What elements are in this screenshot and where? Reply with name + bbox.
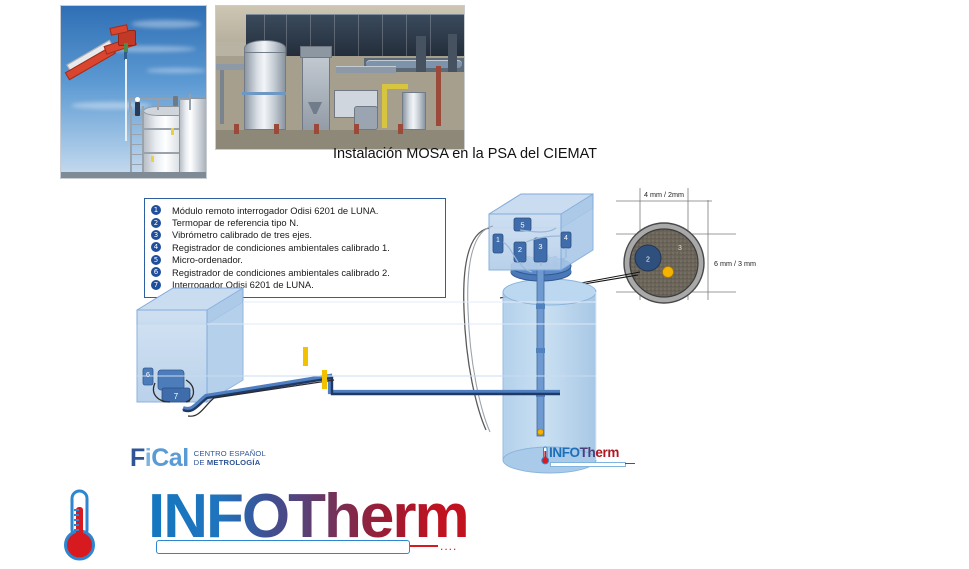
yellow-frame bbox=[382, 84, 408, 89]
infotherm-small-erm: erm bbox=[595, 445, 619, 460]
support-post bbox=[314, 124, 319, 134]
device-label-5: 5 bbox=[520, 221, 524, 230]
infotherm-tube-tip bbox=[410, 545, 438, 547]
silo-tank-rear bbox=[179, 98, 207, 179]
silo-label bbox=[151, 156, 154, 162]
fical-letter-f: F bbox=[130, 444, 145, 472]
pipe-riser bbox=[220, 70, 224, 124]
support-post bbox=[274, 124, 279, 134]
infotherm-tube-dots: .... bbox=[440, 543, 457, 549]
infotherm-small-info: INFO bbox=[549, 445, 580, 460]
filter-top bbox=[300, 46, 332, 58]
cs-marker-2: 2 bbox=[646, 257, 650, 264]
instrument-cabinet-left: 6 7 bbox=[137, 288, 243, 402]
pipe-run bbox=[336, 66, 396, 73]
device-label-1: 1 bbox=[496, 237, 500, 244]
cs-height-label: 6 mm / 3 mm bbox=[714, 259, 756, 268]
fical-subtitle: CENTRO ESPAÑOL DE METROLOGÍA bbox=[194, 449, 266, 468]
support-post bbox=[398, 124, 403, 134]
infotherm-small-bar bbox=[550, 462, 626, 467]
support-post bbox=[234, 124, 239, 134]
ground-strip bbox=[61, 172, 206, 178]
silo-band bbox=[242, 92, 286, 95]
red-column bbox=[436, 66, 441, 126]
fical-wordmark: FiCal bbox=[130, 444, 189, 473]
cable-marker-yellow bbox=[303, 347, 308, 366]
silo-label bbox=[171, 128, 174, 135]
fical-subtitle-line1: CENTRO ESPAÑOL bbox=[194, 449, 266, 459]
cloud-wisp bbox=[146, 68, 206, 73]
fiber-probe bbox=[536, 266, 545, 436]
worker-body bbox=[135, 102, 140, 116]
fiber-cable-arc bbox=[464, 228, 489, 430]
photo-crane-silo bbox=[60, 5, 207, 179]
worker-helmet bbox=[135, 97, 140, 102]
device-label-3: 3 bbox=[538, 242, 542, 251]
fical-letters-cal: Cal bbox=[151, 444, 188, 472]
ladder bbox=[130, 106, 144, 178]
infotherm-small-th: Th bbox=[580, 445, 596, 460]
device-label-2: 2 bbox=[518, 245, 522, 254]
cloud-wisp bbox=[131, 20, 201, 28]
suspended-cable bbox=[125, 59, 127, 141]
secondary-tank bbox=[402, 92, 426, 130]
worker-body bbox=[173, 96, 178, 106]
fical-sub-metrologia: METROLOGÍA bbox=[207, 458, 260, 467]
cs-width-label: 4 mm / 2mm bbox=[644, 190, 684, 199]
fical-logo: FiCal CENTRO ESPAÑOL DE METROLOGÍA bbox=[130, 443, 280, 473]
yellow-frame bbox=[382, 84, 387, 128]
tower-structure bbox=[448, 34, 457, 72]
cs-marker-3: 3 bbox=[678, 245, 682, 252]
rail-post bbox=[189, 94, 191, 110]
infotherm-small-wordmark: INFOTherm bbox=[549, 445, 619, 460]
system-schematic: 2 3 4 mm / 2mm 6 mm / 3 mm bbox=[0, 180, 969, 480]
infotherm-tube-bar bbox=[156, 540, 410, 554]
fical-subtitle-line2: DE METROLOGÍA bbox=[194, 458, 266, 468]
cable-marker-yellow bbox=[322, 370, 327, 389]
thermometer-icon-large bbox=[60, 487, 110, 565]
figure-caption: Instalación MOSA en la PSA del CIEMAT bbox=[215, 146, 715, 162]
device-label-4: 4 bbox=[564, 235, 568, 242]
infotherm-logo-small: INFOTherm bbox=[541, 446, 633, 466]
fical-sub-de: DE bbox=[194, 458, 207, 467]
tower-structure bbox=[416, 36, 426, 72]
device-label-6: 6 bbox=[146, 370, 150, 379]
filter-unit bbox=[302, 54, 330, 132]
instrument-cabinet-right: 5 1 2 3 4 bbox=[489, 194, 593, 272]
photo-mosa-plant bbox=[215, 5, 465, 150]
main-silo bbox=[244, 52, 286, 130]
device-label-7: 7 bbox=[174, 392, 179, 401]
support-post bbox=[354, 124, 359, 134]
infotherm-logo-large: INFOTherm .... bbox=[60, 487, 395, 565]
rail-post bbox=[157, 98, 159, 110]
